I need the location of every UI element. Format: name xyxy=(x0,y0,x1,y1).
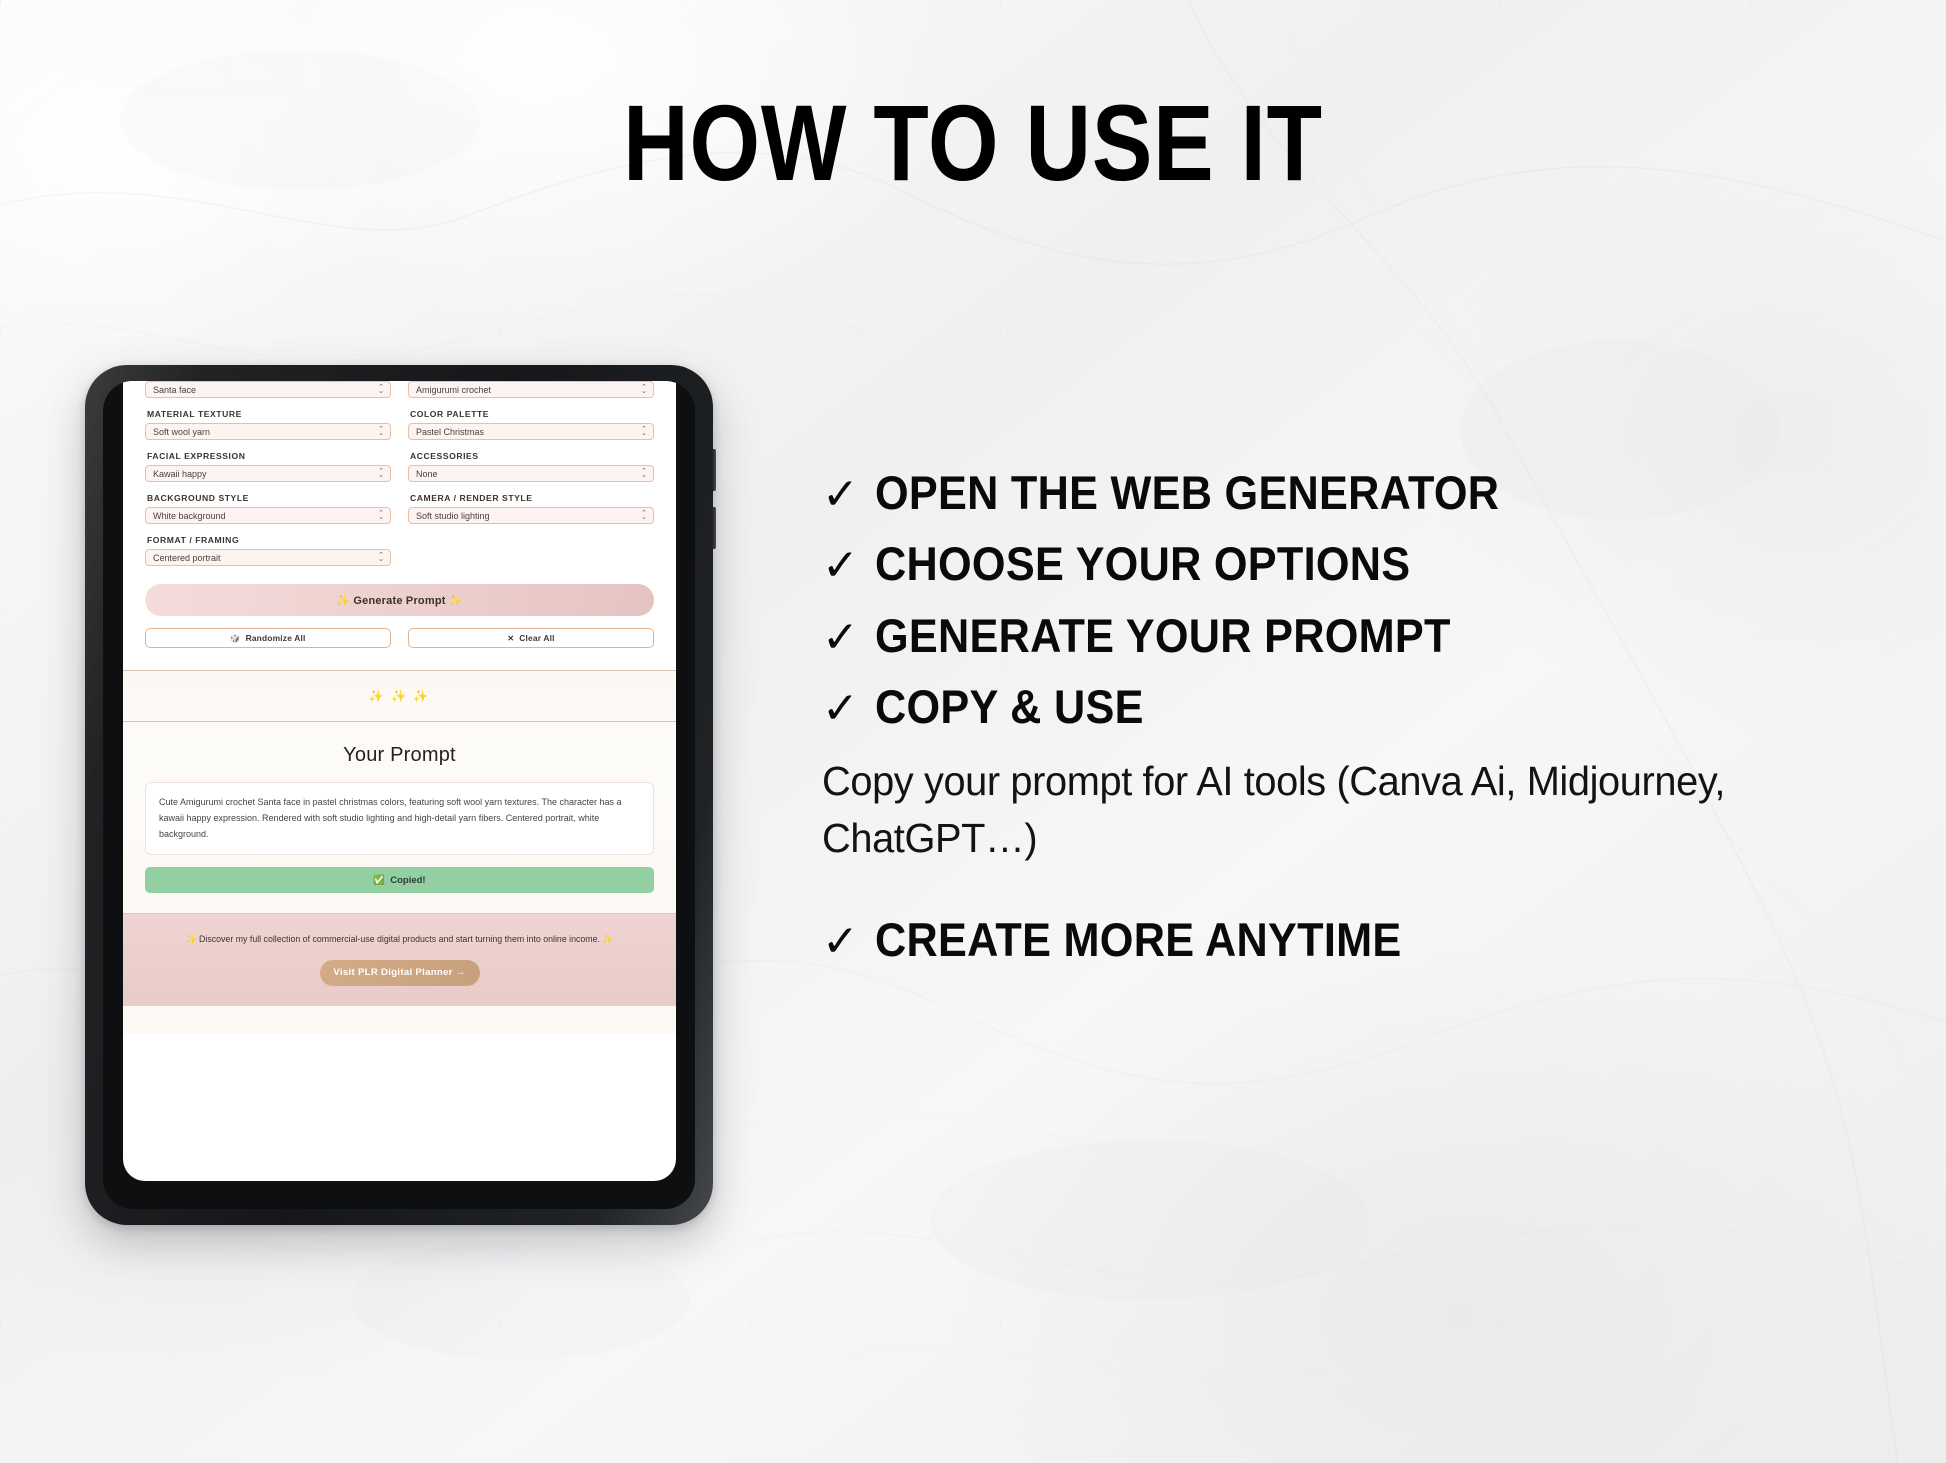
app-footer-spacer xyxy=(123,1006,676,1034)
select-facial-expression-value: Kawaii happy xyxy=(153,469,207,479)
copy-prompt-label: Copied! xyxy=(390,875,425,886)
checklist-item-label: OPEN THE WEB GENERATOR xyxy=(875,468,1499,517)
prompt-heading: Your Prompt xyxy=(145,744,654,767)
select-color-palette[interactable]: Pastel Christmas ⌃⌄ xyxy=(408,423,654,440)
prompt-textarea[interactable]: Cute Amigurumi crochet Santa face in pas… xyxy=(145,782,654,855)
sparkle-divider: ✨ ✨ ✨ xyxy=(123,670,676,722)
checklist-item-open-web-generator: ✓ OPEN THE WEB GENERATOR xyxy=(822,468,1882,517)
select-material-texture[interactable]: Soft wool yarn ⌃⌄ xyxy=(145,423,391,440)
label-facial-expression: FACIAL EXPRESSION xyxy=(147,451,391,461)
field-format-framing: FORMAT / FRAMING Centered portrait ⌃⌄ xyxy=(145,524,391,566)
page-title: HOW TO USE IT xyxy=(156,86,1791,199)
randomize-all-label: Randomize All xyxy=(246,633,306,643)
how-to-use-checklist: ✓ OPEN THE WEB GENERATOR ✓ CHOOSE YOUR O… xyxy=(822,468,1882,986)
close-icon: ✕ xyxy=(507,634,514,643)
chevron-updown-icon: ⌃⌄ xyxy=(641,470,647,478)
field-camera-render-style: CAMERA / RENDER STYLE Soft studio lighti… xyxy=(408,482,654,524)
field-style: Amigurumi crochet ⌃⌄ xyxy=(408,381,654,398)
checklist-description: Copy your prompt for AI tools (Canva Ai,… xyxy=(822,753,1850,866)
check-icon: ✓ xyxy=(822,616,859,660)
volume-down-button[interactable] xyxy=(712,507,716,549)
chevron-updown-icon: ⌃⌄ xyxy=(378,428,384,436)
select-facial-expression[interactable]: Kawaii happy ⌃⌄ xyxy=(145,465,391,482)
select-subject[interactable]: Santa face ⌃⌄ xyxy=(145,381,391,398)
checklist-item-choose-options: ✓ CHOOSE YOUR OPTIONS xyxy=(822,539,1882,588)
options-form: Santa face ⌃⌄ Amigurumi crochet ⌃⌄ xyxy=(123,381,676,670)
randomize-all-button[interactable]: 🎲 Randomize All xyxy=(145,628,391,648)
label-background-style: BACKGROUND STYLE xyxy=(147,493,391,503)
chevron-updown-icon: ⌃⌄ xyxy=(378,470,384,478)
select-format-framing-value: Centered portrait xyxy=(153,553,221,563)
select-style-value: Amigurumi crochet xyxy=(416,385,491,395)
tablet-screen: Santa face ⌃⌄ Amigurumi crochet ⌃⌄ xyxy=(123,381,676,1181)
field-facial-expression: FACIAL EXPRESSION Kawaii happy ⌃⌄ xyxy=(145,440,391,482)
check-icon: ✓ xyxy=(822,473,859,517)
cta-text: ✨ Discover my full collection of commerc… xyxy=(177,931,622,947)
select-camera-render-style[interactable]: Soft studio lighting ⌃⌄ xyxy=(408,507,654,524)
chevron-updown-icon: ⌃⌄ xyxy=(378,512,384,520)
tablet-frame: Santa face ⌃⌄ Amigurumi crochet ⌃⌄ xyxy=(85,365,713,1225)
label-material-texture: MATERIAL TEXTURE xyxy=(147,409,391,419)
prompt-generator-app: Santa face ⌃⌄ Amigurumi crochet ⌃⌄ xyxy=(123,381,676,1181)
select-background-style-value: White background xyxy=(153,511,226,521)
select-background-style[interactable]: White background ⌃⌄ xyxy=(145,507,391,524)
checklist-item-create-more-anytime: ✓ CREATE MORE ANYTIME xyxy=(822,915,1882,964)
check-icon: ✓ xyxy=(822,920,859,964)
label-camera-render-style: CAMERA / RENDER STYLE xyxy=(410,493,654,503)
field-subject: Santa face ⌃⌄ xyxy=(145,381,391,398)
field-accessories: ACCESSORIES None ⌃⌄ xyxy=(408,440,654,482)
select-accessories[interactable]: None ⌃⌄ xyxy=(408,465,654,482)
field-color-palette: COLOR PALETTE Pastel Christmas ⌃⌄ xyxy=(408,398,654,440)
dice-icon: 🎲 xyxy=(230,634,240,643)
check-icon: ✓ xyxy=(822,687,859,731)
generate-prompt-button[interactable]: ✨ Generate Prompt ✨ xyxy=(145,584,654,616)
checklist-item-label: CHOOSE YOUR OPTIONS xyxy=(875,539,1410,588)
chevron-updown-icon: ⌃⌄ xyxy=(378,386,384,394)
chevron-updown-icon: ⌃⌄ xyxy=(641,428,647,436)
chevron-updown-icon: ⌃⌄ xyxy=(641,386,647,394)
volume-up-button[interactable] xyxy=(712,449,716,491)
chevron-updown-icon: ⌃⌄ xyxy=(641,512,647,520)
select-style[interactable]: Amigurumi crochet ⌃⌄ xyxy=(408,381,654,398)
clear-all-button[interactable]: ✕ Clear All xyxy=(408,628,654,648)
checklist-item-generate-prompt: ✓ GENERATE YOUR PROMPT xyxy=(822,611,1882,660)
checklist-item-label: COPY & USE xyxy=(875,682,1144,731)
select-format-framing[interactable]: Centered portrait ⌃⌄ xyxy=(145,549,391,566)
field-spacer xyxy=(408,524,654,566)
cta-section: ✨ Discover my full collection of commerc… xyxy=(123,914,676,1005)
select-material-texture-value: Soft wool yarn xyxy=(153,427,210,437)
select-color-palette-value: Pastel Christmas xyxy=(416,427,484,437)
field-background-style: BACKGROUND STYLE White background ⌃⌄ xyxy=(145,482,391,524)
checklist-item-copy-and-use: ✓ COPY & USE xyxy=(822,682,1882,731)
clear-all-label: Clear All xyxy=(519,633,554,643)
options-grid: Santa face ⌃⌄ Amigurumi crochet ⌃⌄ xyxy=(145,381,654,566)
check-mark-icon: ✅ xyxy=(373,875,385,886)
chevron-updown-icon: ⌃⌄ xyxy=(378,554,384,562)
secondary-button-row: 🎲 Randomize All ✕ Clear All xyxy=(145,628,654,648)
visit-plr-digital-planner-button[interactable]: Visit PLR Digital Planner → xyxy=(320,960,480,986)
select-accessories-value: None xyxy=(416,469,438,479)
checklist-item-label: CREATE MORE ANYTIME xyxy=(875,915,1402,964)
prompt-output-section: Your Prompt Cute Amigurumi crochet Santa… xyxy=(123,722,676,914)
copy-prompt-button[interactable]: ✅ Copied! xyxy=(145,867,654,893)
label-color-palette: COLOR PALETTE xyxy=(410,409,654,419)
field-material-texture: MATERIAL TEXTURE Soft wool yarn ⌃⌄ xyxy=(145,398,391,440)
label-accessories: ACCESSORIES xyxy=(410,451,654,461)
check-icon: ✓ xyxy=(822,544,859,588)
select-subject-value: Santa face xyxy=(153,385,196,395)
label-format-framing: FORMAT / FRAMING xyxy=(147,535,391,545)
tablet-mockup: Santa face ⌃⌄ Amigurumi crochet ⌃⌄ xyxy=(85,365,713,670)
select-camera-render-style-value: Soft studio lighting xyxy=(416,511,490,521)
checklist-item-label: GENERATE YOUR PROMPT xyxy=(875,611,1451,660)
tablet-bezel: Santa face ⌃⌄ Amigurumi crochet ⌃⌄ xyxy=(103,381,695,1209)
